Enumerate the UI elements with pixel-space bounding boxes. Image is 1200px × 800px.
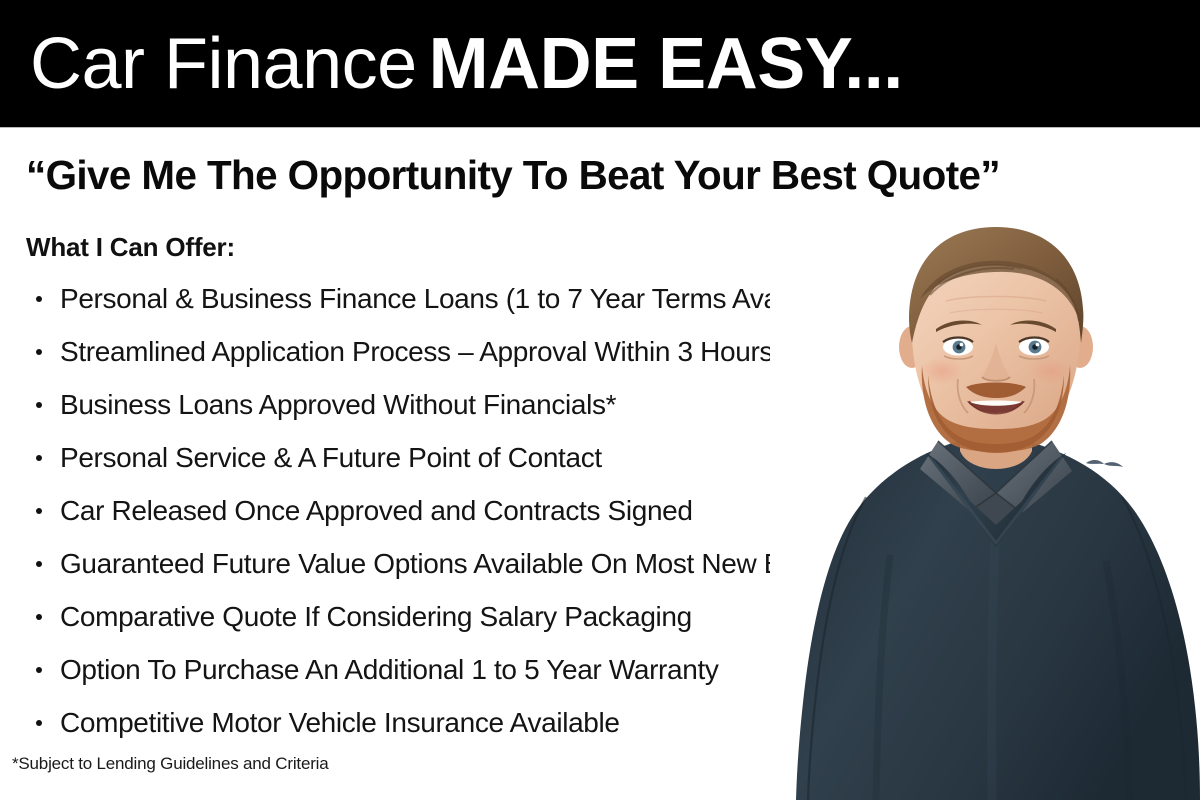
list-item-label: Guaranteed Future Value Options Availabl… — [60, 548, 850, 580]
list-item-label: Business Loans Approved Without Financia… — [60, 389, 616, 421]
bullet-dot-icon — [36, 349, 42, 355]
list-item: Streamlined Application Process – Approv… — [26, 325, 906, 378]
list-item-label: Car Released Once Approved and Contracts… — [60, 495, 693, 527]
bullet-dot-icon — [36, 720, 42, 726]
list-item: Personal Service & A Future Point of Con… — [26, 431, 906, 484]
offer-bullet-list: Personal & Business Finance Loans (1 to … — [26, 272, 906, 749]
list-item: Guaranteed Future Value Options Availabl… — [26, 537, 906, 590]
offer-label: What I Can Offer: — [26, 232, 235, 262]
bullet-dot-icon — [36, 667, 42, 673]
list-item: Option To Purchase An Additional 1 to 5 … — [26, 643, 906, 696]
bullet-dot-icon — [36, 614, 42, 620]
footnote-disclaimer: *Subject to Lending Guidelines and Crite… — [12, 754, 329, 774]
bullet-dot-icon — [36, 296, 42, 302]
header-banner: Car FinanceMADE EASY... — [0, 0, 1200, 128]
poster-root: Car FinanceMADE EASY... “Give Me The Opp… — [0, 0, 1200, 800]
list-item-label: Personal & Business Finance Loans (1 to … — [60, 283, 851, 315]
banner-title-lead: Car Finance — [30, 24, 417, 104]
list-item-label: Streamlined Application Process – Approv… — [60, 336, 784, 368]
list-item-label: Competitive Motor Vehicle Insurance Avai… — [60, 707, 620, 739]
banner-title: Car FinanceMADE EASY... — [30, 28, 903, 100]
list-item: Car Released Once Approved and Contracts… — [26, 484, 906, 537]
list-item: Competitive Motor Vehicle Insurance Avai… — [26, 696, 906, 749]
bullet-dot-icon — [36, 561, 42, 567]
bullet-dot-icon — [36, 455, 42, 461]
list-item: Comparative Quote If Considering Salary … — [26, 590, 906, 643]
list-item-label: Personal Service & A Future Point of Con… — [60, 442, 602, 474]
headline-quote: “Give Me The Opportunity To Beat Your Be… — [26, 152, 1149, 198]
bullet-dot-icon — [36, 508, 42, 514]
list-item-label: Option To Purchase An Additional 1 to 5 … — [60, 654, 719, 686]
banner-title-emphasis: MADE EASY... — [429, 24, 903, 104]
list-item: Personal & Business Finance Loans (1 to … — [26, 272, 906, 325]
list-item-label: Comparative Quote If Considering Salary … — [60, 601, 692, 633]
bullet-dot-icon — [36, 402, 42, 408]
list-item: Business Loans Approved Without Financia… — [26, 378, 906, 431]
